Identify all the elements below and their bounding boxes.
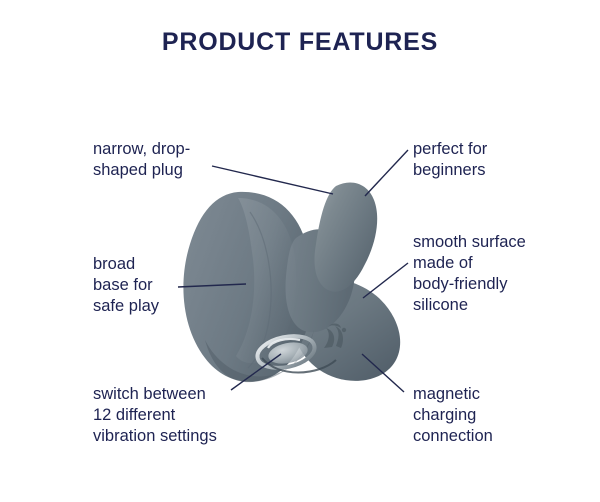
product-features-diagram: PRODUCT FEATURES: [0, 0, 600, 502]
product-plug: [315, 182, 378, 291]
leader-smooth-surface: [363, 263, 408, 298]
callout-broad-base: broad base for safe play: [93, 254, 243, 317]
callout-smooth-surface: smooth surface made of body-friendly sil…: [413, 232, 588, 316]
callout-narrow-plug: narrow, drop- shaped plug: [93, 139, 253, 181]
callout-switch-vibration: switch between 12 different vibration se…: [93, 384, 273, 447]
callout-magnetic-charging: magnetic charging connection: [413, 384, 583, 447]
leader-perfect-beginners: [365, 150, 408, 196]
callout-perfect-beginners: perfect for beginners: [413, 139, 583, 181]
